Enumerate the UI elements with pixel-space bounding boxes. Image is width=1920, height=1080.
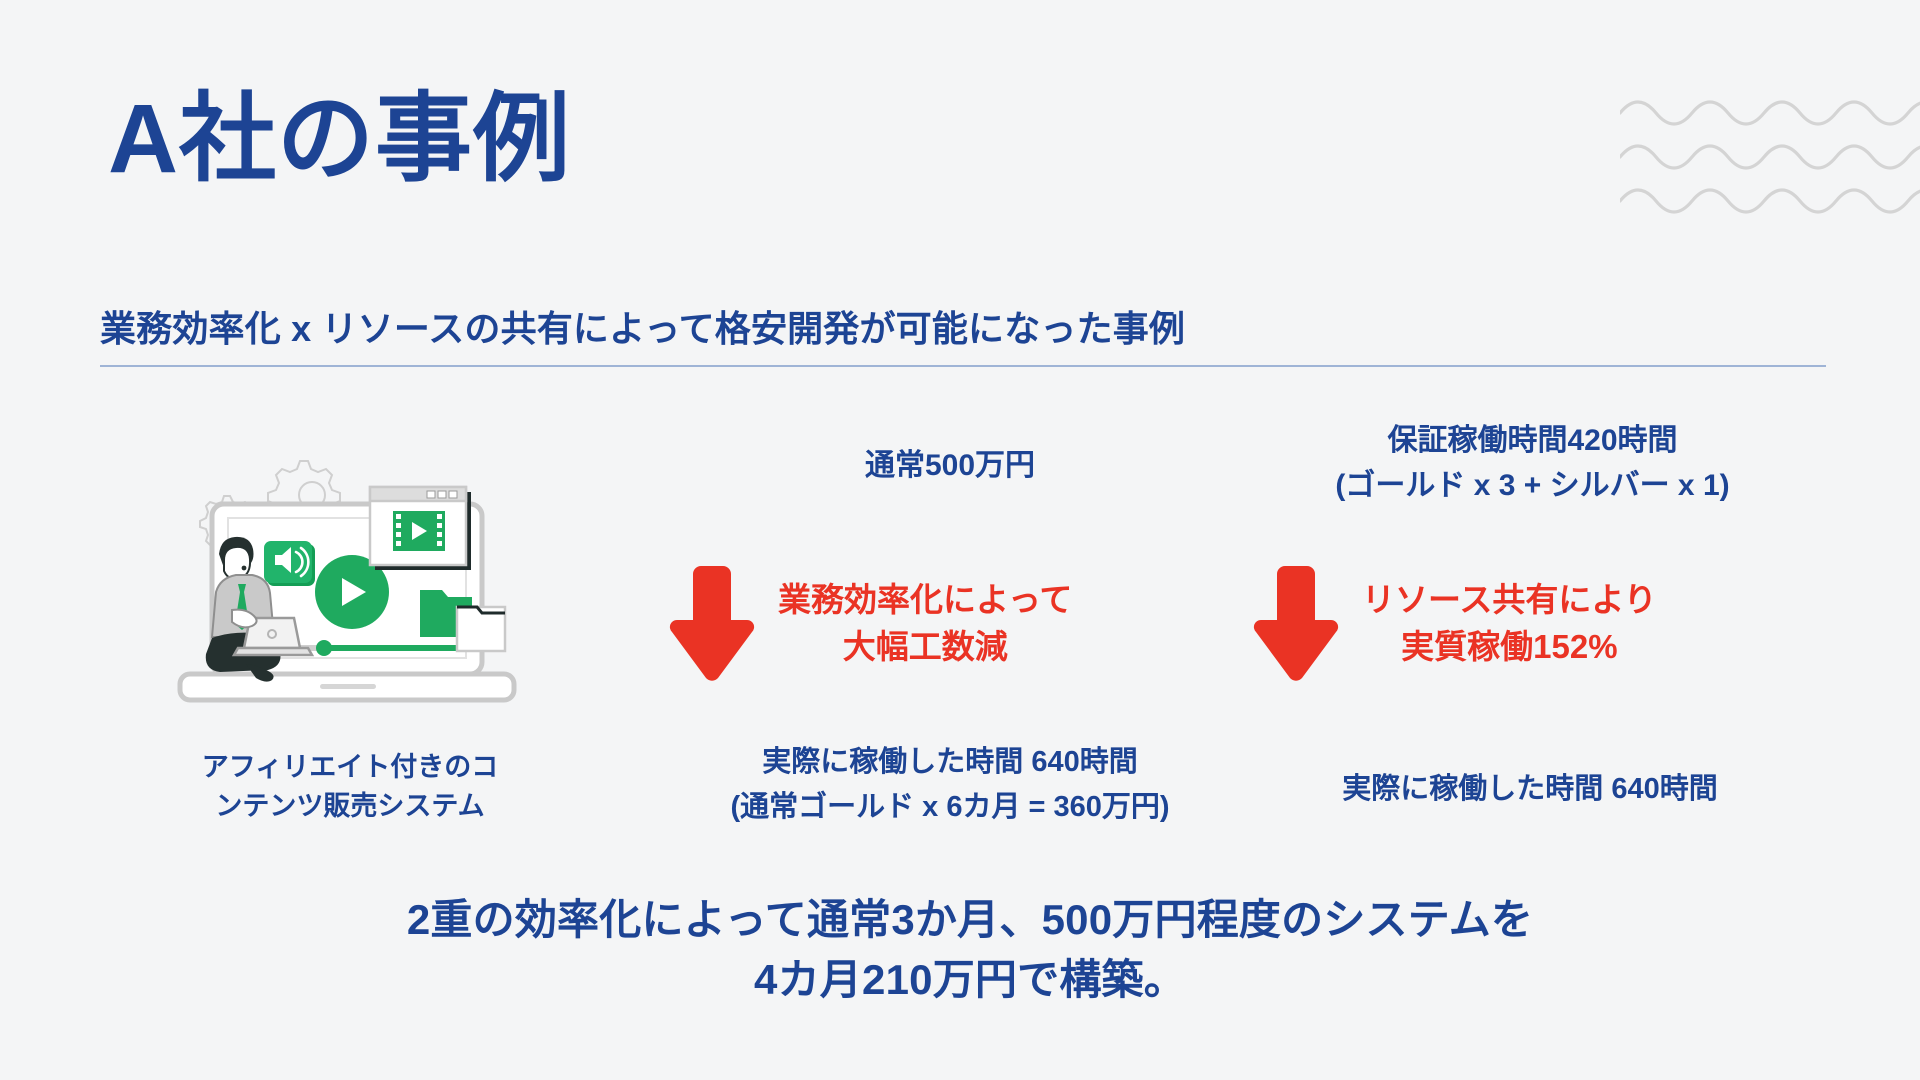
content-sales-system-illustration (172, 432, 524, 722)
middle-bottom-label: 実際に稼働した時間 640時間 (通常ゴールド x 6カ月 = 360万円) (640, 740, 1260, 830)
right-red-note-line1: リソース共有により (1362, 577, 1657, 624)
right-bottom-label: 実際に稼働した時間 640時間 (1250, 765, 1810, 807)
page-title: A社の事例 (108, 88, 571, 190)
middle-top-label: 通常500万円 (660, 440, 1240, 484)
right-top-line2: (ゴールド x 3 + シルバー x 1) (1255, 463, 1810, 508)
conclusion-line1: 2重の効率化によって通常3か月、500万円程度のシステムを (120, 890, 1820, 950)
middle-red-note-line2: 大幅工数減 (778, 624, 1072, 671)
middle-bottom-line2: (通常ゴールド x 6カ月 = 360万円) (640, 785, 1260, 830)
slide-canvas: A社の事例 業務効率化 x リソースの共有によって格安開発が可能になった事例 (0, 0, 1920, 1080)
speaker-icon (264, 541, 315, 586)
middle-arrow-block: 業務効率化によって 大幅工数減 (664, 560, 1072, 688)
illustration-caption-line1: アフィリエイト付きのコ (130, 748, 570, 787)
middle-red-note: 業務効率化によって 大幅工数減 (778, 577, 1072, 671)
video-window-icon (370, 487, 471, 570)
down-arrow-icon (664, 560, 756, 688)
wavy-lines-icon (1620, 95, 1920, 235)
right-top-line1: 保証稼働時間420時間 (1255, 418, 1810, 463)
illustration-caption-line2: ンテンツ販売システム (130, 787, 570, 826)
page-subtitle: 業務効率化 x リソースの共有によって格安開発が可能になった事例 (100, 300, 1185, 352)
down-arrow-icon (1248, 560, 1340, 688)
right-top-label: 保証稼働時間420時間 (ゴールド x 3 + シルバー x 1) (1255, 418, 1810, 508)
right-red-note: リソース共有により 実質稼働152% (1362, 577, 1657, 671)
middle-red-note-line1: 業務効率化によって (778, 577, 1072, 624)
conclusion-line2: 4カ月210万円で構築。 (120, 950, 1820, 1010)
conclusion-text: 2重の効率化によって通常3か月、500万円程度のシステムを 4カ月210万円で構… (120, 890, 1820, 1009)
illustration-caption: アフィリエイト付きのコ ンテンツ販売システム (130, 748, 570, 826)
middle-bottom-line1: 実際に稼働した時間 640時間 (640, 740, 1260, 785)
right-arrow-block: リソース共有により 実質稼働152% (1248, 560, 1657, 688)
right-red-note-line2: 実質稼働152% (1362, 624, 1657, 671)
header-divider (100, 365, 1826, 367)
